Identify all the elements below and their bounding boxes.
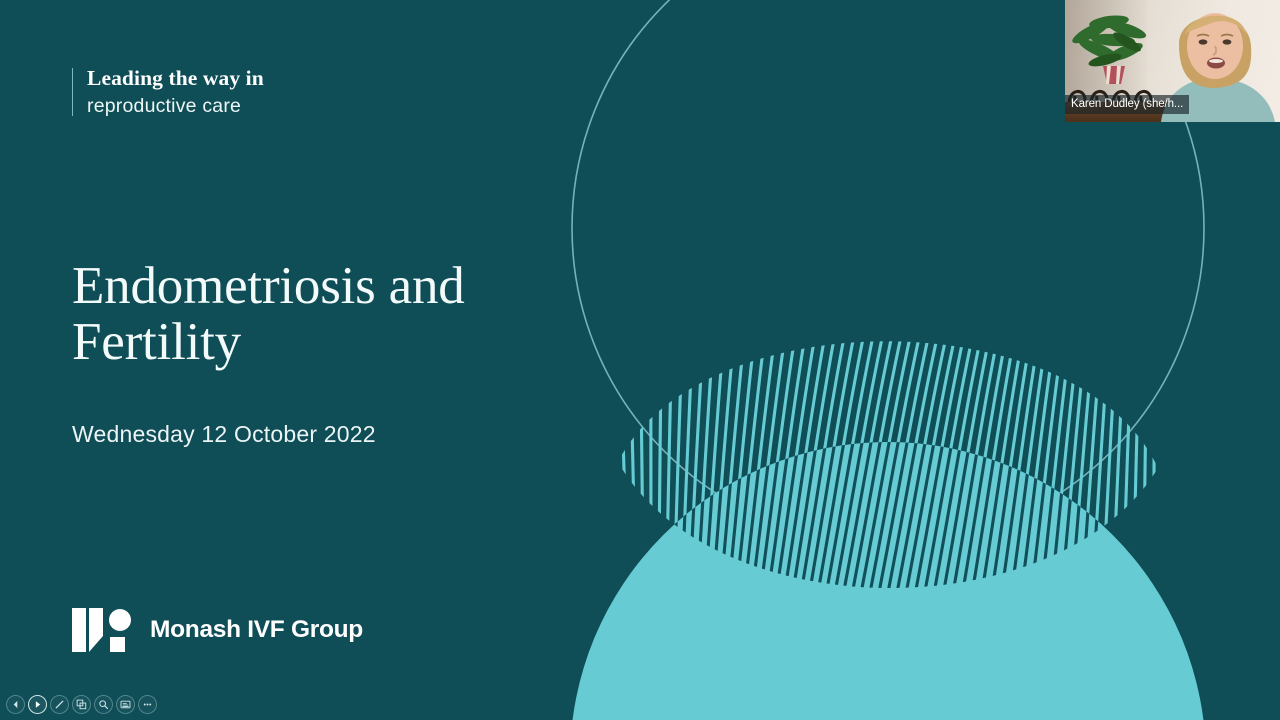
brand-wordmark: Monash IVF Group (150, 616, 363, 644)
slide-date: Wednesday 12 October 2022 (72, 421, 376, 448)
screen-icon (120, 699, 131, 710)
slide-title: Endometriosis and Fertility (72, 258, 592, 370)
back-arrow-icon (11, 700, 20, 709)
participant-video-tile[interactable]: Karen Dudley (she/h... (1065, 0, 1280, 122)
brand-logo: Monash IVF Group (72, 606, 363, 654)
more-options-button[interactable] (138, 695, 157, 714)
presentation-slide: Leading the way in reproductive care End… (0, 0, 1280, 720)
tagline-line-1: Leading the way in (87, 68, 264, 90)
play-button[interactable] (28, 695, 47, 714)
tagline: Leading the way in reproductive care (72, 68, 264, 116)
previous-slide-button[interactable] (6, 695, 25, 714)
player-toolbar[interactable] (4, 693, 159, 716)
layers-icon (76, 699, 87, 710)
presentation-view-button[interactable] (116, 695, 135, 714)
monash-ivf-logo-mark-icon (72, 606, 136, 654)
magnifier-icon (98, 699, 109, 710)
video-plant (1069, 8, 1159, 84)
decoration-striations-dark (597, 300, 1175, 625)
ellipsis-icon (142, 699, 153, 710)
participant-name-label: Karen Dudley (she/h... (1065, 95, 1189, 114)
tagline-line-2: reproductive care (87, 97, 264, 117)
zoom-button[interactable] (94, 695, 113, 714)
pen-icon (54, 699, 65, 710)
decoration-filled-circle (570, 442, 1206, 720)
pen-tool-button[interactable] (50, 695, 69, 714)
play-icon (33, 700, 42, 709)
duplicate-view-button[interactable] (72, 695, 91, 714)
decoration-striations-light (597, 300, 1175, 625)
